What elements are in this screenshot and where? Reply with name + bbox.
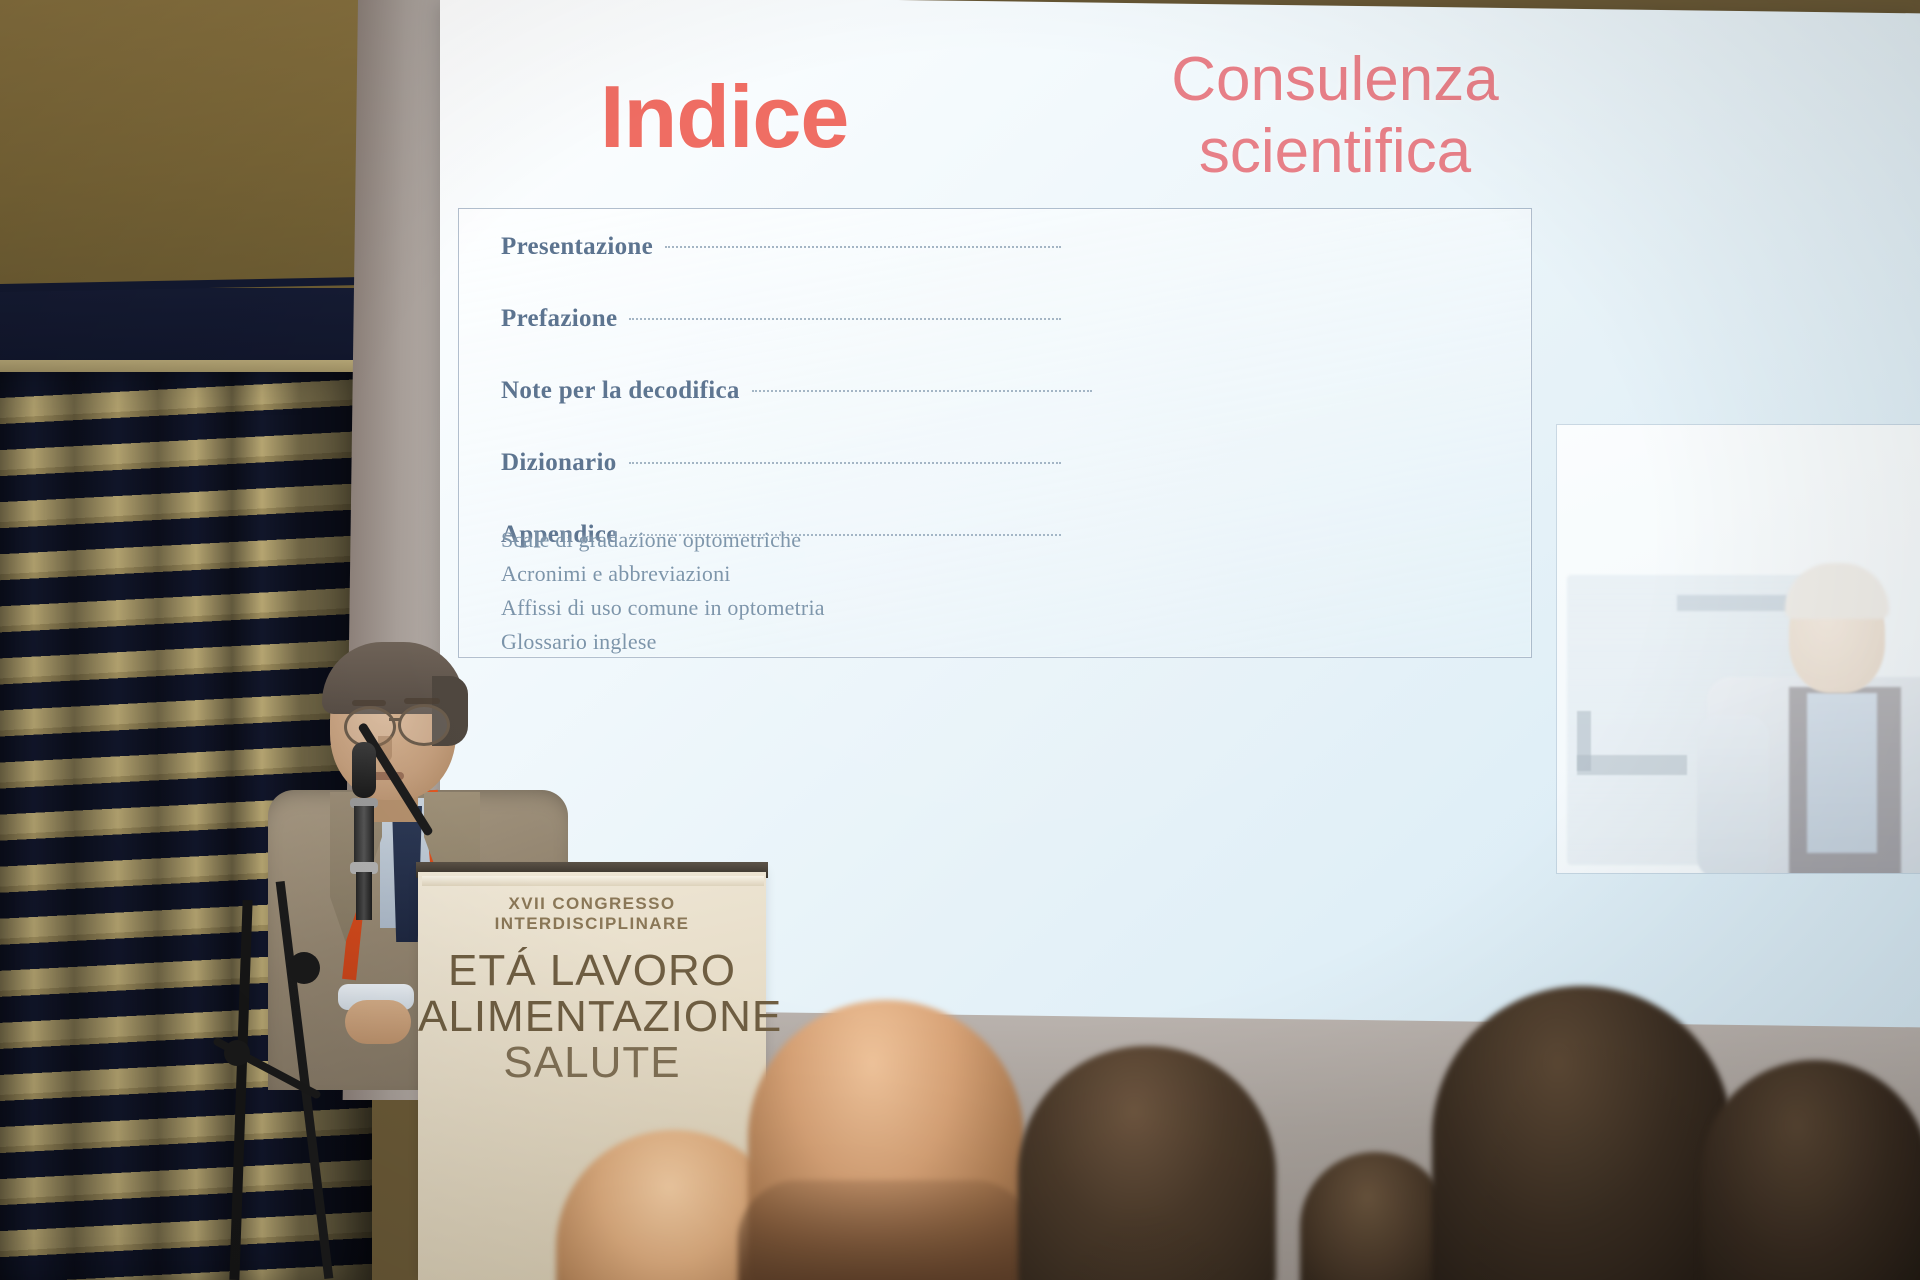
microphone-lower-body bbox=[356, 872, 372, 920]
congress-title-line1: ETÁ LAVORO bbox=[418, 948, 766, 994]
projector-washout bbox=[1557, 425, 1920, 873]
congress-title: ETÁ LAVORO ALIMENTAZIONE SALUTE bbox=[418, 948, 766, 1085]
congress-title-line2: ALIMENTAZIONE bbox=[418, 994, 766, 1040]
toc-label: Presentazione bbox=[501, 233, 653, 261]
toc-row: Presentazione bbox=[501, 233, 1061, 261]
toc-label: Note per la decodifica bbox=[501, 377, 740, 405]
audience-head bbox=[748, 1000, 1024, 1280]
podium-signage: XVII CONGRESSO INTERDISCIPLINARE ETÁ LAV… bbox=[418, 894, 766, 1085]
appendix-sublist: Scale di gradazione optometriche Acronim… bbox=[501, 527, 825, 663]
audience-head bbox=[1432, 986, 1732, 1280]
slide-content-panel: Presentazione Prefazione Note per la dec… bbox=[458, 208, 1532, 658]
slide-heading-indice: Indice bbox=[600, 66, 848, 168]
slide-heading-consulenza: Consulenza scientifica bbox=[1100, 44, 1570, 188]
audience-head bbox=[1700, 1060, 1920, 1280]
consulenza-line2: scientifica bbox=[1100, 116, 1570, 188]
microphone-body bbox=[354, 806, 374, 866]
toc-row: Dizionario bbox=[501, 449, 1061, 477]
speaker-glasses-right-lens bbox=[398, 704, 450, 746]
table-of-contents: Presentazione Prefazione Note per la dec… bbox=[501, 233, 1061, 565]
congress-title-line3: SALUTE bbox=[418, 1040, 766, 1086]
appendix-item: Affissi di uso comune in optometria bbox=[501, 595, 825, 621]
leader-dots bbox=[752, 390, 1092, 392]
microphone-joint bbox=[288, 952, 320, 984]
speaker-hand bbox=[345, 1000, 411, 1044]
consulenza-line1: Consulenza bbox=[1100, 44, 1570, 116]
appendix-item: Glossario inglese bbox=[501, 629, 825, 655]
toc-row: Note per la decodifica bbox=[501, 377, 1061, 405]
toc-row: Prefazione bbox=[501, 305, 1061, 333]
appendix-item: Scale di gradazione optometriche bbox=[501, 527, 825, 553]
leader-dots bbox=[629, 318, 1061, 320]
appendix-item: Acronimi e abbreviazioni bbox=[501, 561, 825, 587]
leader-dots bbox=[629, 462, 1062, 464]
podium-ledge bbox=[422, 876, 764, 886]
microphone-capsule bbox=[352, 742, 376, 798]
speaker-glasses-bridge bbox=[389, 718, 401, 721]
slide-photo: E E T L O A bbox=[1557, 425, 1920, 873]
toc-label: Dizionario bbox=[501, 449, 617, 477]
toc-label: Prefazione bbox=[501, 305, 617, 333]
congress-subtitle: XVII CONGRESSO INTERDISCIPLINARE bbox=[418, 894, 766, 934]
microphone-joint bbox=[224, 1040, 250, 1066]
leader-dots bbox=[665, 246, 1061, 248]
conference-photograph: Indice Consulenza scientifica Presentazi… bbox=[0, 0, 1920, 1280]
